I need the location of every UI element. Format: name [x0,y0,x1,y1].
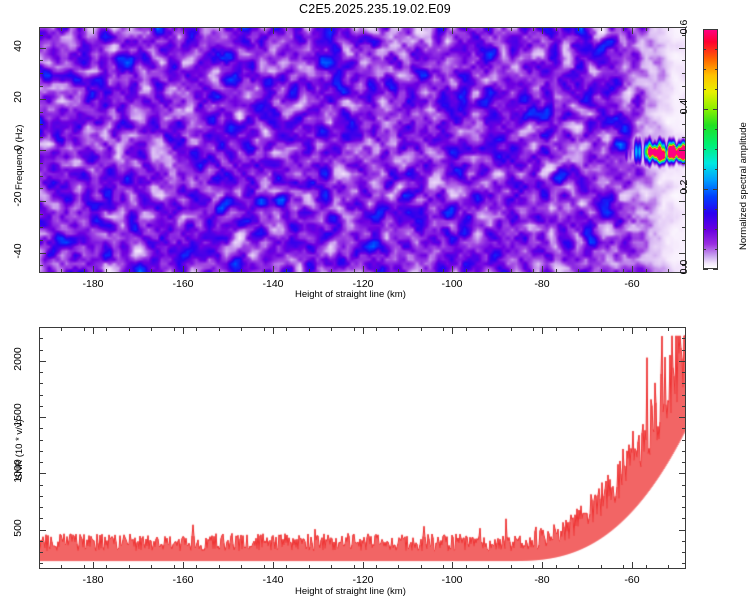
tick-mark [578,327,579,331]
tick-mark [61,327,62,331]
tick-mark [273,327,274,334]
tick-mark [39,428,43,429]
tick-mark [466,27,467,31]
tick-mark [273,266,274,273]
tick-mark [84,27,85,31]
tick-mark [174,327,175,331]
tick-mark [129,327,130,331]
tick-mark [363,562,364,569]
tick-mark [219,565,220,569]
tick-label: 40 [12,28,24,64]
tick-mark [601,269,602,273]
tick-mark [363,27,364,34]
tick-mark [682,496,686,497]
tick-mark [398,327,399,331]
tick-mark [39,188,43,189]
colorbar-tick [703,129,706,130]
colorbar-tick [703,89,706,90]
tick-mark [39,473,46,474]
tick-mark [556,27,557,31]
tick-mark [452,266,453,273]
snr-canvas [40,328,685,568]
tick-mark [273,27,274,34]
tick-label: -160 [172,278,193,290]
tick-mark [264,327,265,331]
tick-mark [421,327,422,331]
tick-mark [632,266,633,273]
tick-mark [682,137,686,138]
colorbar-tick-label: 0.6 [678,11,690,43]
colorbar-tick [715,49,718,50]
tick-mark [241,565,242,569]
colorbar-tick [715,209,718,210]
tick-mark [542,266,543,273]
tick-mark [39,150,46,151]
tick-mark [39,451,43,452]
tick-mark [354,27,355,31]
tick-mark [39,137,43,138]
tick-label: -120 [352,574,373,586]
spectrogram-x-axis-label: Height of straight line (km) [295,289,406,300]
tick-mark [601,27,602,31]
tick-mark [679,361,686,362]
tick-mark [309,565,310,569]
colorbar-tick [703,109,708,110]
tick-mark [679,150,686,151]
tick-mark [668,327,669,331]
tick-mark [679,417,686,418]
tick-mark [93,562,94,569]
tick-mark [39,372,43,373]
tick-mark [623,27,624,31]
tick-mark [488,269,489,273]
tick-mark [443,327,444,331]
tick-mark [39,507,43,508]
tick-label: 20 [12,79,24,115]
tick-mark [151,327,152,331]
colorbar-tick [715,249,718,250]
tick-mark [682,552,686,553]
tick-mark [452,327,453,334]
tick-mark [488,565,489,569]
tick-mark [646,565,647,569]
tick-mark [39,496,43,497]
tick-mark [39,253,46,254]
tick-mark [39,518,43,519]
tick-mark [39,73,43,74]
tick-mark [174,269,175,273]
tick-mark [241,269,242,273]
tick-mark [39,201,46,202]
tick-mark [39,417,46,418]
tick-mark [533,269,534,273]
tick-mark [264,269,265,273]
colorbar-tick [703,29,708,30]
tick-mark [421,269,422,273]
tick-mark [264,565,265,569]
tick-mark [286,269,287,273]
tick-mark [466,269,467,273]
tick-mark [183,266,184,273]
tick-label: -160 [172,574,193,586]
tick-mark [39,530,46,531]
tick-mark [632,27,633,34]
tick-mark [682,395,686,396]
tick-mark [196,269,197,273]
tick-mark [452,27,453,34]
tick-mark [39,383,43,384]
colorbar-tick [703,209,706,210]
tick-mark [682,507,686,508]
colorbar-tick [715,229,718,230]
colorbar-tick [703,149,706,150]
snr-plot-area [39,327,686,569]
tick-mark [331,327,332,331]
tick-mark [578,27,579,31]
tick-mark [488,327,489,331]
tick-mark [601,327,602,331]
tick-mark [376,565,377,569]
tick-label: -140 [262,278,283,290]
tick-mark [398,27,399,31]
tick-mark [542,27,543,34]
tick-mark [39,35,43,36]
tick-mark [331,565,332,569]
tick-mark [632,562,633,569]
snr-y-axis-label: SNR (10 * v/v) [14,419,25,480]
tick-mark [679,530,686,531]
colorbar-tick [715,129,718,130]
tick-mark [632,327,633,334]
tick-label: 500 [12,510,24,546]
tick-label: -100 [441,574,462,586]
colorbar-tick [713,269,718,270]
tick-mark [556,269,557,273]
tick-mark [241,327,242,331]
tick-mark [668,269,669,273]
tick-mark [354,565,355,569]
tick-mark [682,240,686,241]
tick-mark [219,327,220,331]
tick-mark [309,269,310,273]
tick-label: -180 [82,278,103,290]
snr-x-axis-label: Height of straight line (km) [295,586,406,597]
tick-mark [39,112,43,113]
tick-mark [682,86,686,87]
tick-mark [682,73,686,74]
tick-mark [39,214,43,215]
tick-mark [376,269,377,273]
tick-mark [39,227,43,228]
colorbar-tick-label: 0.4 [678,91,690,123]
tick-mark [682,428,686,429]
tick-mark [511,565,512,569]
colorbar-tick [703,229,706,230]
tick-mark [286,327,287,331]
tick-mark [39,338,43,339]
tick-mark [398,565,399,569]
tick-mark [466,565,467,569]
tick-mark [421,565,422,569]
tick-mark [533,565,534,569]
tick-mark [376,27,377,31]
tick-mark [668,27,669,31]
colorbar-tick-label: 0.0 [678,251,690,283]
tick-mark [682,60,686,61]
tick-mark [354,269,355,273]
tick-mark [61,565,62,569]
tick-mark [488,27,489,31]
tick-mark [682,383,686,384]
tick-mark [106,269,107,273]
tick-mark [84,327,85,331]
tick-mark [331,27,332,31]
tick-mark [39,485,43,486]
tick-mark [556,327,557,331]
tick-mark [679,48,686,49]
spectrogram-canvas [40,28,685,272]
tick-mark [646,269,647,273]
tick-label: -100 [441,278,462,290]
tick-mark [129,27,130,31]
tick-mark [39,99,46,100]
tick-mark [542,327,543,334]
tick-mark [511,269,512,273]
tick-mark [39,395,43,396]
tick-mark [511,327,512,331]
tick-label: -40 [12,233,24,269]
tick-mark [682,338,686,339]
tick-mark [39,350,43,351]
tick-mark [39,240,43,241]
tick-mark [466,327,467,331]
tick-mark [682,485,686,486]
tick-mark [151,269,152,273]
tick-mark [61,27,62,31]
tick-mark [196,27,197,31]
tick-mark [39,563,43,564]
figure-root: C2E5.2025.235.19.02.E09 -180-160-140-120… [0,0,750,600]
tick-mark [578,269,579,273]
colorbar-tick [715,169,718,170]
tick-mark [84,565,85,569]
colorbar-tick [703,269,708,270]
figure-title: C2E5.2025.235.19.02.E09 [0,2,750,16]
tick-mark [533,27,534,31]
tick-mark [682,214,686,215]
tick-mark [452,562,453,569]
tick-mark [398,269,399,273]
tick-mark [443,565,444,569]
tick-mark [39,462,43,463]
tick-mark [354,327,355,331]
tick-label: -60 [624,278,639,290]
tick-mark [39,552,43,553]
tick-mark [443,269,444,273]
colorbar-tick [713,29,718,30]
tick-mark [679,473,686,474]
tick-mark [196,327,197,331]
tick-mark [106,327,107,331]
tick-mark [623,269,624,273]
tick-mark [39,48,46,49]
tick-mark [682,372,686,373]
tick-mark [601,565,602,569]
tick-mark [623,565,624,569]
tick-label: -80 [534,278,549,290]
tick-mark [623,327,624,331]
colorbar-tick [715,149,718,150]
tick-mark [682,541,686,542]
tick-mark [106,27,107,31]
tick-mark [682,518,686,519]
tick-mark [542,562,543,569]
colorbar-tick [703,189,708,190]
colorbar-tick [713,189,718,190]
tick-mark [682,462,686,463]
tick-mark [682,440,686,441]
colorbar-tick [703,169,706,170]
colorbar-tick-label: 0.2 [678,171,690,203]
tick-label: 2000 [12,341,24,377]
tick-mark [682,563,686,564]
tick-mark [682,406,686,407]
tick-mark [183,27,184,34]
tick-mark [682,163,686,164]
tick-mark [106,565,107,569]
tick-mark [129,565,130,569]
tick-mark [646,27,647,31]
colorbar-tick [715,89,718,90]
tick-mark [241,27,242,31]
tick-mark [443,27,444,31]
tick-mark [129,269,130,273]
colorbar-axis-label: Normalized spectral amplitude [738,122,749,250]
tick-mark [511,27,512,31]
colorbar-tick [703,69,706,70]
tick-mark [682,350,686,351]
tick-mark [363,266,364,273]
tick-label: -180 [82,574,103,586]
tick-mark [668,565,669,569]
tick-mark [196,565,197,569]
tick-mark [682,227,686,228]
tick-mark [646,327,647,331]
tick-mark [39,361,46,362]
tick-mark [533,327,534,331]
tick-label: -80 [534,574,549,586]
spectrogram-plot-area [39,27,686,273]
tick-mark [363,327,364,334]
tick-mark [93,266,94,273]
tick-mark [682,124,686,125]
tick-mark [219,269,220,273]
tick-mark [39,176,43,177]
tick-mark [39,440,43,441]
tick-mark [331,269,332,273]
tick-mark [682,451,686,452]
tick-mark [286,27,287,31]
tick-mark [39,406,43,407]
tick-mark [39,124,43,125]
tick-mark [286,565,287,569]
colorbar-tick [715,69,718,70]
tick-mark [309,27,310,31]
tick-mark [376,327,377,331]
tick-mark [174,565,175,569]
tick-mark [219,27,220,31]
tick-mark [183,562,184,569]
tick-mark [578,565,579,569]
tick-mark [421,27,422,31]
tick-mark [84,269,85,273]
tick-label: -140 [262,574,283,586]
colorbar-tick [703,249,706,250]
tick-label: -60 [624,574,639,586]
tick-mark [61,269,62,273]
tick-mark [39,60,43,61]
tick-mark [309,327,310,331]
colorbar-tick [713,109,718,110]
tick-mark [93,327,94,334]
tick-mark [39,163,43,164]
tick-mark [39,265,43,266]
tick-mark [264,27,265,31]
tick-mark [183,327,184,334]
tick-mark [39,86,43,87]
tick-mark [174,27,175,31]
spectrogram-y-axis-label: Frequency (Hz) [14,125,25,190]
colorbar-tick [703,49,706,50]
tick-mark [273,562,274,569]
tick-mark [93,27,94,34]
tick-mark [39,541,43,542]
tick-mark [151,27,152,31]
tick-mark [556,565,557,569]
tick-mark [151,565,152,569]
